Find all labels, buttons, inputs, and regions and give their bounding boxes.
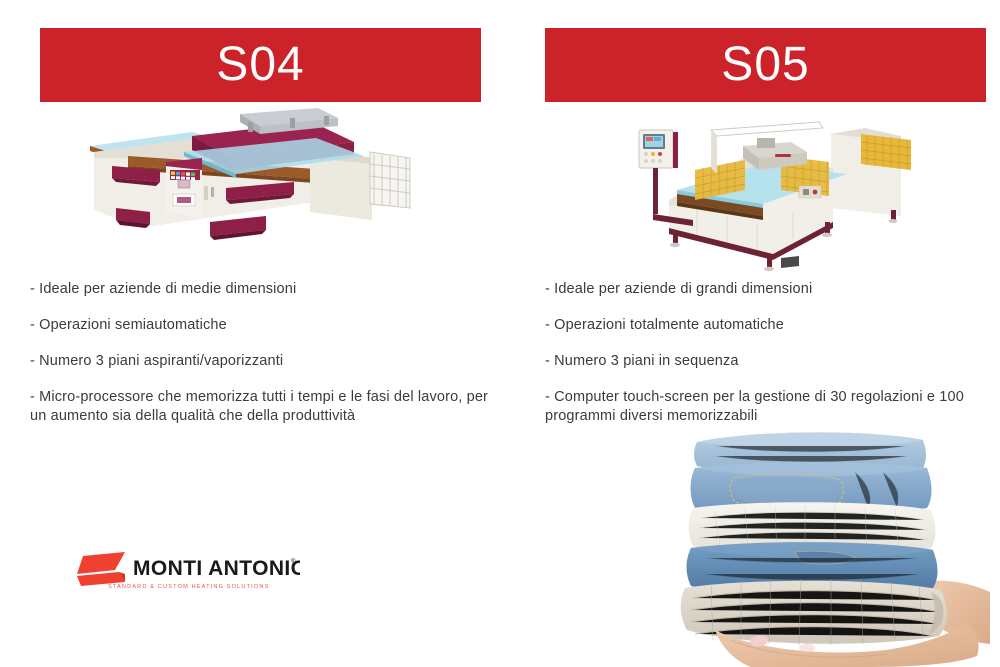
logo-registered-mark: ® [291, 558, 296, 565]
s04-machine-illustration [80, 108, 425, 273]
logo-brand-text: MONTI ANTONIO [133, 557, 300, 580]
monti-antonio-logo: MONTI ANTONIO ® STANDARD & CUSTOM HEATIN… [75, 548, 300, 594]
logo-tagline-text: STANDARD & CUSTOM HEATING SOLUTIONS [108, 584, 269, 590]
banner-title-s05: S05 [721, 41, 809, 89]
product-image-s04 [80, 108, 425, 273]
company-logo: MONTI ANTONIO ® STANDARD & CUSTOM HEATIN… [75, 548, 300, 594]
feature-list-s05: - Ideale per aziende di grandi dimension… [545, 280, 995, 426]
logo-mark-icon [77, 552, 125, 586]
banner-s05: S05 [545, 28, 986, 102]
banner-title-s04: S04 [216, 41, 304, 89]
feature-list-s04: - Ideale per aziende di medie dimensioni… [30, 280, 495, 426]
s05-machine-illustration [633, 108, 938, 278]
feature-item: - Numero 3 piani aspiranti/vaporizzanti [30, 352, 495, 371]
feature-item: - Operazioni semiautomatiche [30, 316, 495, 335]
product-image-s05 [633, 108, 938, 278]
folded-clothes-photo [655, 432, 990, 667]
feature-item: - Ideale per aziende di grandi dimension… [545, 280, 995, 299]
feature-item: - Ideale per aziende di medie dimensioni [30, 280, 495, 299]
banner-s04: S04 [40, 28, 481, 102]
column-s04: S04 [0, 0, 505, 667]
feature-item: - Micro-processore che memorizza tutti i… [30, 388, 495, 426]
slide-root: S04 [0, 0, 1000, 667]
feature-item: - Computer touch-screen per la gestione … [545, 388, 995, 426]
safety-guard-right [861, 134, 911, 170]
feature-item: - Numero 3 piani in sequenza [545, 352, 995, 371]
feature-item: - Operazioni totalmente automatiche [545, 316, 995, 335]
folded-laundry-stack-illustration [655, 432, 990, 667]
